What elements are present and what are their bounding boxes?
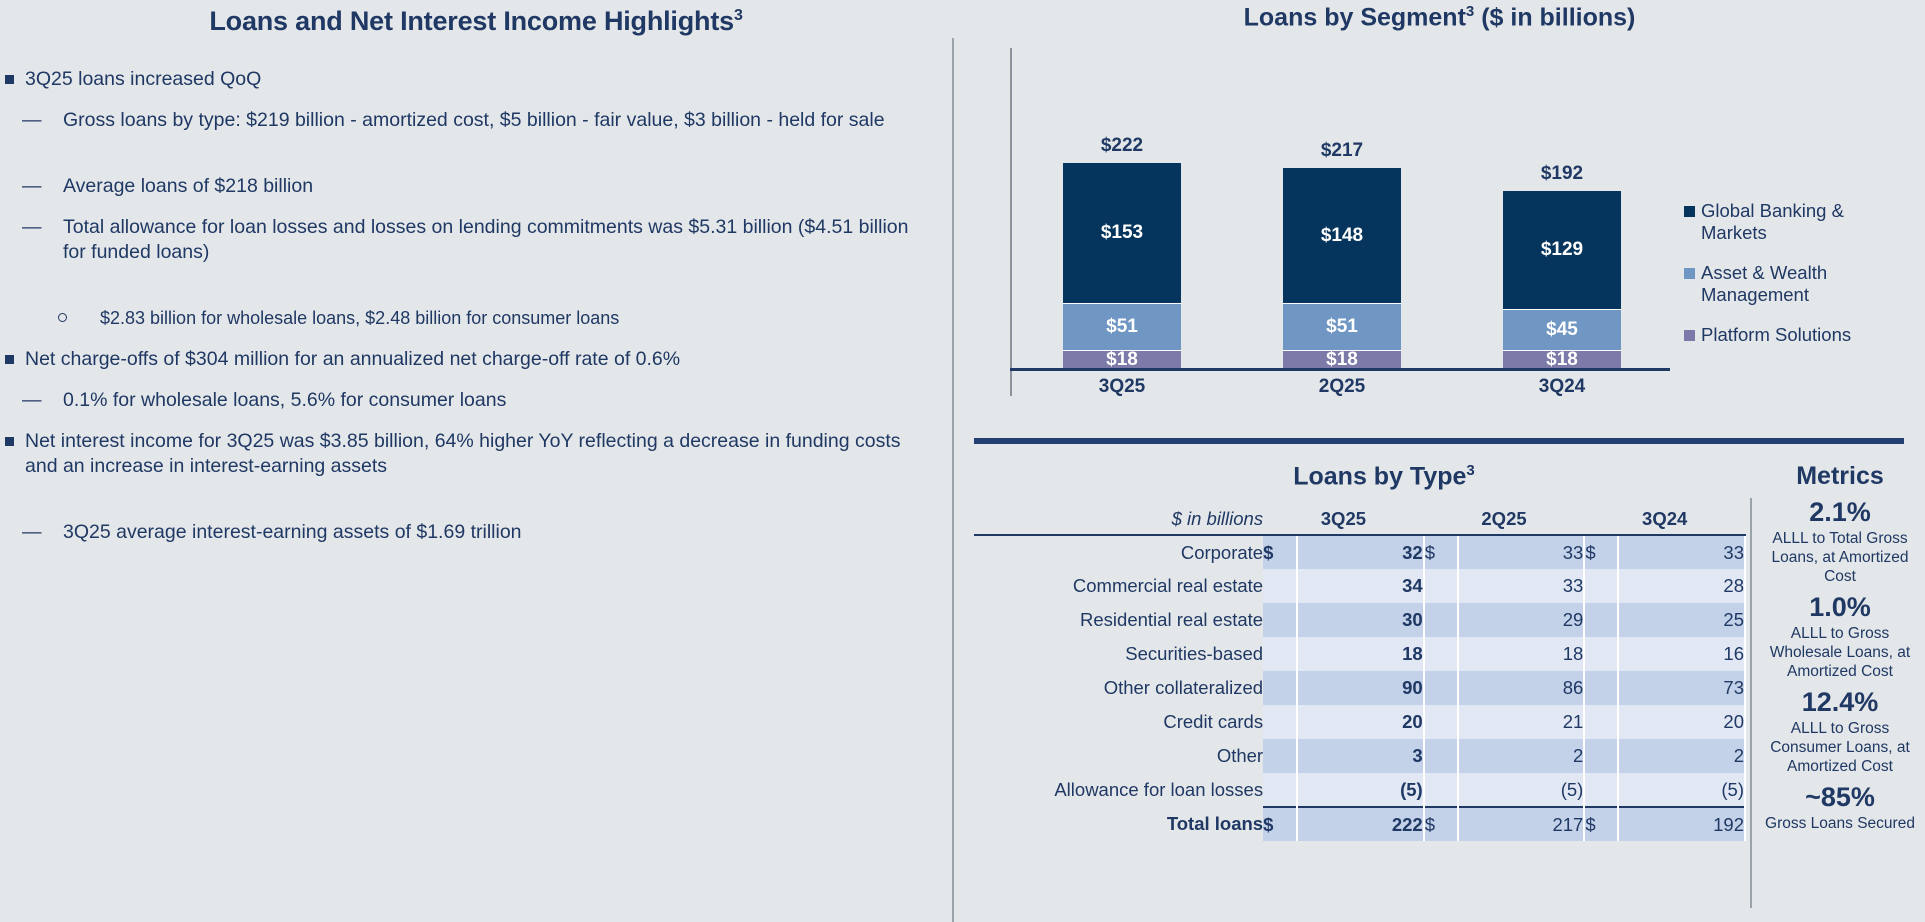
currency-spacer [1424, 603, 1458, 637]
legend-item-ps: Platform Solutions [1684, 324, 1864, 346]
bullet-item: Net charge-offs of $304 million for an a… [0, 347, 932, 372]
chart-title-units: ($ in billions) [1474, 3, 1635, 31]
table-title-text: Loans by Type [1293, 462, 1466, 490]
currency-spacer [1584, 569, 1618, 603]
loans-by-type-table: $ in billions 3Q25 2Q25 3Q24 Corporate $… [974, 503, 1746, 841]
currency-spacer [1263, 705, 1297, 739]
chart-title: Loans by Segment3 ($ in billions) [954, 0, 1925, 32]
dash-bullet-icon: — [22, 388, 42, 413]
cell-value: 32 [1297, 535, 1424, 569]
row-label: Credit cards [974, 705, 1263, 739]
slide-root: Loans and Net Interest Income Highlights… [0, 0, 1925, 922]
currency-spacer [1263, 739, 1297, 773]
bullet-item: — Average loans of $218 billion [0, 174, 932, 199]
currency-spacer [1263, 603, 1297, 637]
x-tick-label: 2Q25 [1283, 376, 1401, 398]
currency-spacer [1584, 637, 1618, 671]
currency-spacer [1584, 773, 1618, 807]
cell-value: 18 [1458, 637, 1585, 671]
currency-spacer [1263, 637, 1297, 671]
row-label: Commercial real estate [974, 569, 1263, 603]
table-row: Residential real estate 30 29 25 [974, 603, 1745, 637]
metric-item: ~85% Gross Loans Secured [1760, 782, 1920, 833]
cell-value: 33 [1458, 535, 1585, 569]
legend-item-gbm: Global Banking & Markets [1684, 200, 1864, 244]
currency-spacer [1263, 773, 1297, 807]
row-label: Other collateralized [974, 671, 1263, 705]
bullet-item: 3Q25 loans increased QoQ [0, 67, 932, 92]
dash-bullet-icon: — [22, 520, 42, 545]
cell-value: 21 [1458, 705, 1585, 739]
bullet-text: Net charge-offs of $304 million for an a… [25, 348, 680, 370]
chart-bars: $222 $153 $51 $18 $217 $148 $51 $18 [1012, 48, 1672, 368]
currency-symbol: $ [1263, 807, 1297, 841]
metric-description: ALLL to Gross Consumer Loans, at Amortiz… [1760, 719, 1920, 776]
currency-spacer [1584, 603, 1618, 637]
metric-description: ALLL to Gross Wholesale Loans, at Amorti… [1760, 624, 1920, 681]
bar-segment-gbm: $153 [1063, 163, 1181, 304]
bar-segment-awm: $51 [1063, 304, 1181, 351]
dash-bullet-icon: — [22, 108, 42, 133]
metric-item: 2.1% ALLL to Total Gross Loans, at Amort… [1760, 497, 1920, 586]
chart-title-text: Loans by Segment [1244, 3, 1466, 31]
bar-group: $192 $129 $45 $18 [1503, 163, 1621, 368]
cell-value: 20 [1297, 705, 1424, 739]
loans-by-type-section: Loans by Type3 $ in billions 3Q25 2Q25 3… [954, 462, 1754, 841]
legend-label: Global Banking & Markets [1701, 200, 1864, 244]
metric-value: 1.0% [1760, 592, 1920, 623]
table-total-row: Total loans $ 222 $ 217 $ 192 [974, 807, 1745, 841]
legend-item-awm: Asset & Wealth Management [1684, 262, 1864, 306]
x-tick-label: 3Q25 [1063, 376, 1181, 398]
currency-spacer [1424, 773, 1458, 807]
bar-segment-awm: $45 [1503, 310, 1621, 351]
metric-value: ~85% [1760, 782, 1920, 813]
cell-value: 192 [1618, 807, 1745, 841]
cell-value: 217 [1458, 807, 1585, 841]
cell-value: (5) [1297, 773, 1424, 807]
bullet-text: Gross loans by type: $219 billion - amor… [63, 109, 932, 156]
currency-spacer [1584, 671, 1618, 705]
cell-value: 16 [1618, 637, 1745, 671]
currency-symbol: $ [1584, 535, 1618, 569]
currency-spacer [1263, 569, 1297, 603]
highlights-bullet-list: 3Q25 loans increased QoQ — Gross loans b… [0, 67, 952, 545]
currency-spacer [1424, 637, 1458, 671]
row-label: Residential real estate [974, 603, 1263, 637]
bar-stack: $148 $51 $18 [1283, 168, 1401, 368]
bullet-item: $2.83 billion for wholesale loans, $2.48… [0, 306, 932, 331]
table-unit-label: $ in billions [974, 503, 1263, 535]
page-title: Loans and Net Interest Income Highlights… [0, 0, 952, 37]
bullet-text: 0.1% for wholesale loans, 5.6% for consu… [63, 389, 506, 411]
currency-spacer [1424, 569, 1458, 603]
cell-value: 86 [1458, 671, 1585, 705]
bullet-text: Total allowance for loan losses and loss… [63, 216, 932, 288]
circle-bullet-icon [58, 313, 67, 322]
bar-segment-ps: $18 [1283, 351, 1401, 368]
cell-value: 29 [1458, 603, 1585, 637]
metric-item: 1.0% ALLL to Gross Wholesale Loans, at A… [1760, 592, 1920, 681]
page-title-text: Loans and Net Interest Income Highlights [209, 6, 734, 36]
table-row: Other collateralized 90 86 73 [974, 671, 1745, 705]
chart-x-axis [1010, 368, 1670, 371]
table-column-header: 3Q25 [1263, 503, 1424, 535]
metric-value: 2.1% [1760, 497, 1920, 528]
x-tick-label: 3Q24 [1503, 376, 1621, 398]
bar-stack: $153 $51 $18 [1063, 163, 1181, 368]
currency-spacer [1263, 671, 1297, 705]
cell-value: 33 [1618, 535, 1745, 569]
bar-total-label: $192 [1541, 163, 1583, 185]
legend-label: Platform Solutions [1701, 324, 1851, 346]
cell-value: 18 [1297, 637, 1424, 671]
table-title-footnote: 3 [1466, 462, 1474, 479]
page-title-footnote: 3 [734, 7, 743, 24]
row-label: Corporate [974, 535, 1263, 569]
dash-bullet-icon: — [22, 174, 42, 199]
bar-total-label: $222 [1101, 135, 1143, 157]
table-column-header: 3Q24 [1584, 503, 1745, 535]
table-row: Securities-based 18 18 16 [974, 637, 1745, 671]
square-bullet-icon [5, 437, 14, 446]
currency-spacer [1584, 739, 1618, 773]
currency-spacer [1424, 705, 1458, 739]
chart-title-footnote: 3 [1466, 3, 1474, 20]
cell-value: 30 [1297, 603, 1424, 637]
table-title: Loans by Type3 [954, 462, 1754, 491]
bar-segment-gbm: $129 [1503, 191, 1621, 310]
bar-stack: $129 $45 $18 [1503, 191, 1621, 368]
bar-group: $222 $153 $51 $18 [1063, 135, 1181, 368]
bullet-text: Net interest income for 3Q25 was $3.85 b… [25, 430, 932, 502]
dash-bullet-icon: — [22, 215, 42, 240]
bullet-item: — 0.1% for wholesale loans, 5.6% for con… [0, 388, 932, 413]
cell-value: 33 [1458, 569, 1585, 603]
currency-spacer [1424, 739, 1458, 773]
highlights-panel: Loans and Net Interest Income Highlights… [0, 0, 952, 922]
cell-value: 28 [1618, 569, 1745, 603]
bar-group: $217 $148 $51 $18 [1283, 140, 1401, 368]
horizontal-divider [974, 438, 1904, 444]
bullet-item: Net interest income for 3Q25 was $3.85 b… [0, 429, 932, 504]
cell-value: 3 [1297, 739, 1424, 773]
legend-swatch-icon [1684, 330, 1695, 341]
row-label: Securities-based [974, 637, 1263, 671]
bar-segment-awm: $51 [1283, 304, 1401, 351]
legend-swatch-icon [1684, 206, 1695, 217]
bullet-text: $2.83 billion for wholesale loans, $2.48… [100, 308, 619, 328]
table-column-header: 2Q25 [1424, 503, 1585, 535]
cell-value: 2 [1458, 739, 1585, 773]
metrics-title: Metrics [1760, 462, 1920, 491]
chart-x-tick-labels: 3Q25 2Q25 3Q24 [1012, 376, 1672, 398]
currency-symbol: $ [1424, 535, 1458, 569]
table-header-row: $ in billions 3Q25 2Q25 3Q24 [974, 503, 1745, 535]
cell-value: (5) [1458, 773, 1585, 807]
row-label: Other [974, 739, 1263, 773]
table-row: Other 3 2 2 [974, 739, 1745, 773]
metric-description: ALLL to Total Gross Loans, at Amortized … [1760, 529, 1920, 586]
currency-symbol: $ [1424, 807, 1458, 841]
metric-value: 12.4% [1760, 687, 1920, 718]
bullet-item: — 3Q25 average interest-earning assets o… [0, 520, 932, 545]
bullet-text: 3Q25 average interest-earning assets of … [63, 521, 522, 543]
cell-value: 222 [1297, 807, 1424, 841]
metrics-panel: Metrics 2.1% ALLL to Total Gross Loans, … [1760, 462, 1920, 833]
cell-value: 90 [1297, 671, 1424, 705]
bullet-item: — Gross loans by type: $219 billion - am… [0, 108, 932, 158]
currency-spacer [1584, 705, 1618, 739]
loans-by-segment-chart: $222 $153 $51 $18 $217 $148 $51 $18 [954, 48, 1925, 398]
square-bullet-icon [5, 75, 14, 84]
cell-value: (5) [1618, 773, 1745, 807]
bullet-text: 3Q25 loans increased QoQ [25, 68, 261, 90]
bar-segment-ps: $18 [1503, 351, 1621, 368]
table-row: Credit cards 20 21 20 [974, 705, 1745, 739]
currency-symbol: $ [1584, 807, 1618, 841]
currency-spacer [1424, 671, 1458, 705]
cell-value: 2 [1618, 739, 1745, 773]
table-row: Allowance for loan losses (5) (5) (5) [974, 773, 1745, 807]
legend-swatch-icon [1684, 268, 1695, 279]
bar-segment-gbm: $148 [1283, 168, 1401, 304]
cell-value: 20 [1618, 705, 1745, 739]
row-label: Allowance for loan losses [974, 773, 1263, 807]
legend-label: Asset & Wealth Management [1701, 262, 1864, 306]
metric-description: Gross Loans Secured [1760, 814, 1920, 833]
bullet-item: — Total allowance for loan losses and lo… [0, 215, 932, 290]
table-row: Commercial real estate 34 33 28 [974, 569, 1745, 603]
charts-panel: Loans by Segment3 ($ in billions) $222 $… [954, 0, 1925, 922]
bullet-text: Average loans of $218 billion [63, 175, 313, 197]
currency-symbol: $ [1263, 535, 1297, 569]
metric-item: 12.4% ALLL to Gross Consumer Loans, at A… [1760, 687, 1920, 776]
metrics-divider [1750, 498, 1752, 908]
bar-total-label: $217 [1321, 140, 1363, 162]
cell-value: 73 [1618, 671, 1745, 705]
square-bullet-icon [5, 355, 14, 364]
chart-legend: Global Banking & Markets Asset & Wealth … [1684, 200, 1864, 364]
cell-value: 25 [1618, 603, 1745, 637]
cell-value: 34 [1297, 569, 1424, 603]
row-label: Total loans [974, 807, 1263, 841]
table-row: Corporate $ 32 $ 33 $ 33 [974, 535, 1745, 569]
bar-segment-ps: $18 [1063, 351, 1181, 368]
